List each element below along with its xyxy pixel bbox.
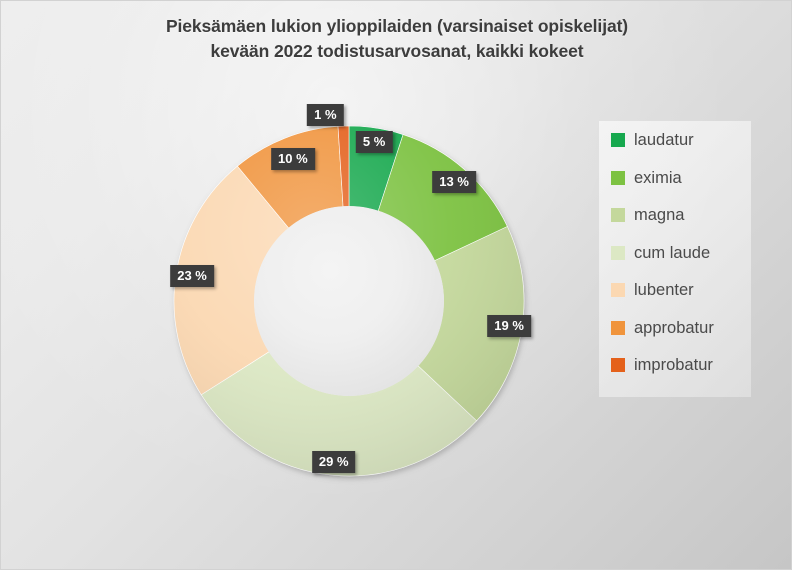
chart-canvas: Pieksämäen lukion ylioppilaiden (varsina…: [0, 0, 792, 570]
legend-item-lubenter[interactable]: lubenter: [611, 279, 694, 301]
legend-item-label: eximia: [634, 169, 682, 187]
data-label-magna: 19 %: [487, 315, 531, 337]
chart-title: Pieksämäen lukion ylioppilaiden (varsina…: [1, 14, 792, 64]
data-label-lubenter: 23 %: [170, 265, 214, 287]
data-label-eximia: 13 %: [432, 171, 476, 193]
legend-swatch-icon-eximia: [611, 171, 625, 185]
legend-item-label: lubenter: [634, 281, 694, 299]
chart-title-line-1: Pieksämäen lukion ylioppilaiden (varsina…: [1, 14, 792, 39]
legend-swatch-icon-improbatur: [611, 358, 625, 372]
legend: laudatureximiamagnacum laudelubenterappr…: [599, 121, 751, 397]
legend-item-label: improbatur: [634, 356, 713, 374]
legend-swatch-icon-lubenter: [611, 283, 625, 297]
legend-item-label: magna: [634, 206, 684, 224]
data-label-approbatur: 10 %: [271, 148, 315, 170]
legend-item-approbatur[interactable]: approbatur: [611, 317, 714, 339]
legend-item-laudatur[interactable]: laudatur: [611, 129, 694, 151]
legend-item-eximia[interactable]: eximia: [611, 167, 682, 189]
legend-swatch-icon-approbatur: [611, 321, 625, 335]
legend-item-label: laudatur: [634, 131, 694, 149]
legend-item-improbatur[interactable]: improbatur: [611, 354, 713, 376]
legend-item-cum-laude[interactable]: cum laude: [611, 242, 710, 264]
legend-swatch-icon-laudatur: [611, 133, 625, 147]
legend-swatch-icon-cum-laude: [611, 246, 625, 260]
data-label-laudatur: 5 %: [356, 131, 392, 153]
data-label-cum-laude: 29 %: [312, 451, 356, 473]
legend-item-magna[interactable]: magna: [611, 204, 684, 226]
legend-swatch-icon-magna: [611, 208, 625, 222]
legend-item-label: cum laude: [634, 244, 710, 262]
data-label-improbatur: 1 %: [307, 104, 343, 126]
chart-title-line-2: kevään 2022 todistusarvosanat, kaikki ko…: [1, 39, 792, 64]
legend-item-label: approbatur: [634, 319, 714, 337]
